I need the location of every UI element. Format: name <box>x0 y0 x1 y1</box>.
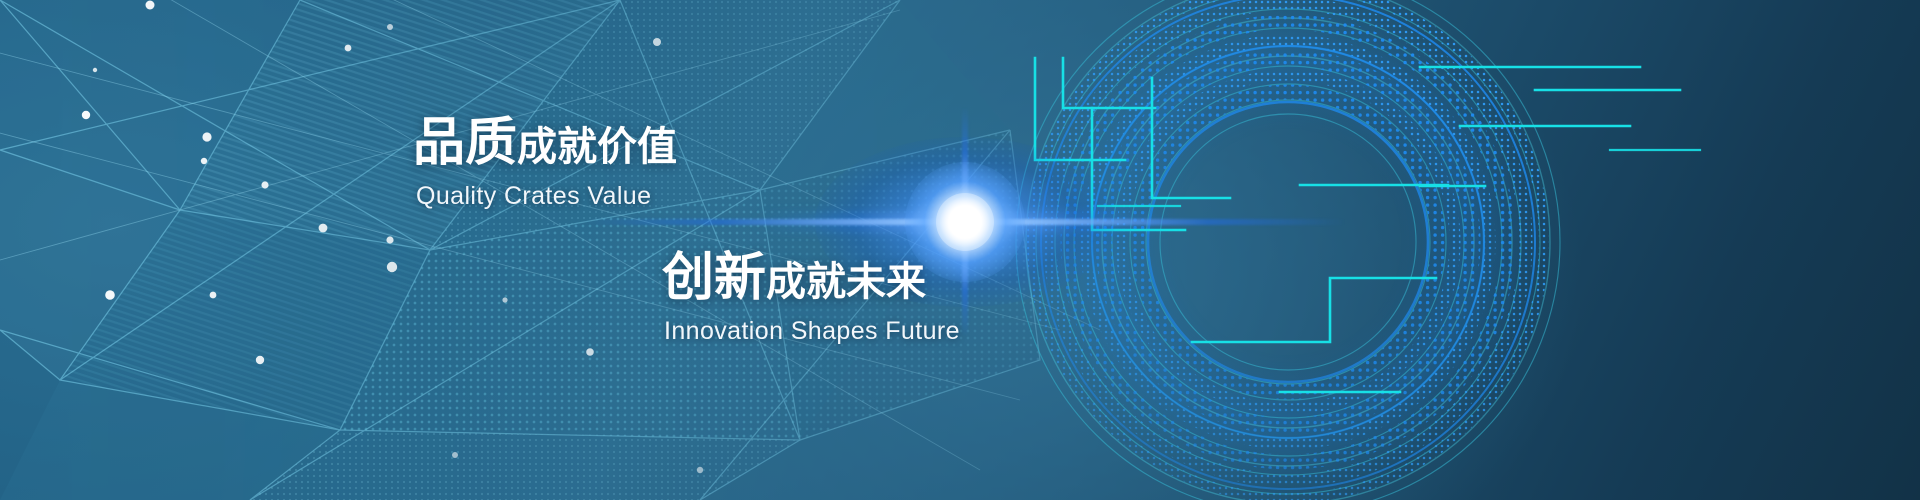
slogan-quality: 品质成就价值 Quality Crates Value <box>413 117 677 211</box>
slogan-innovation-headline-light: 成就未来 <box>766 260 926 304</box>
circuit-trace-graphic <box>0 0 1920 500</box>
slogan-quality-headline-bold: 品质 <box>413 114 517 172</box>
slogan-quality-headline: 品质成就价值 <box>413 117 677 169</box>
hero-banner: 品质成就价值 Quality Crates Value 创新成就未来 Innov… <box>0 0 1920 500</box>
slogan-innovation-headline: 创新成就未来 <box>662 252 960 304</box>
slogan-innovation-subline: Innovation Shapes Future <box>664 317 960 346</box>
slogan-quality-subline: Quality Crates Value <box>416 182 677 211</box>
slogan-quality-headline-light: 成就价值 <box>517 125 677 169</box>
slogan-innovation: 创新成就未来 Innovation Shapes Future <box>662 252 960 346</box>
slogan-innovation-headline-bold: 创新 <box>662 249 766 307</box>
